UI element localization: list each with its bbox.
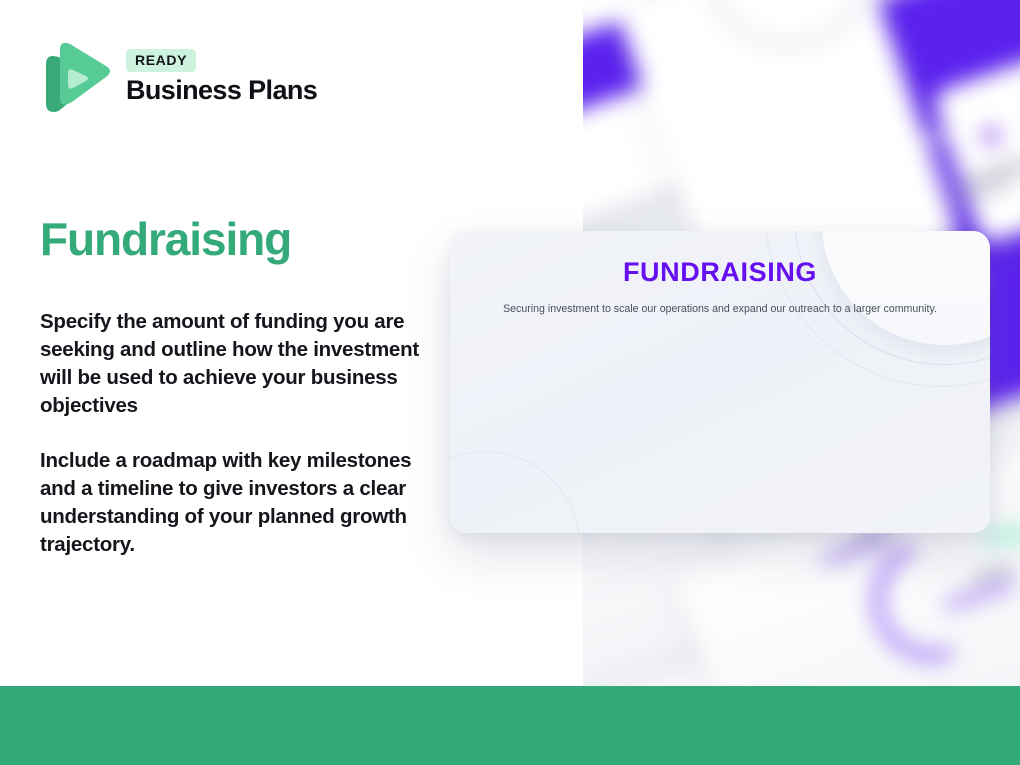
- funding-breakdown-diagram: $150,000 Space Expansion $150,000 Market…: [450, 231, 990, 533]
- fundraising-slide-card: FUNDRAISING Securing investment to scale…: [450, 231, 990, 533]
- footer-bar: [0, 686, 1020, 765]
- page-title: Fundraising: [40, 214, 291, 265]
- double-play-triangle-logo-icon: [40, 38, 112, 116]
- body-paragraph-2: Include a roadmap with key milestones an…: [40, 447, 432, 559]
- brand-name: Business Plans: [126, 76, 317, 104]
- slide-canvas: READY Business Plans Fundraising Specify…: [0, 0, 1020, 765]
- ready-badge: READY: [126, 49, 196, 72]
- brand-logo[interactable]: READY Business Plans: [40, 38, 317, 116]
- bg-dot-purple-right: [983, 128, 999, 144]
- body-paragraph-1: Specify the amount of funding you are se…: [40, 308, 432, 420]
